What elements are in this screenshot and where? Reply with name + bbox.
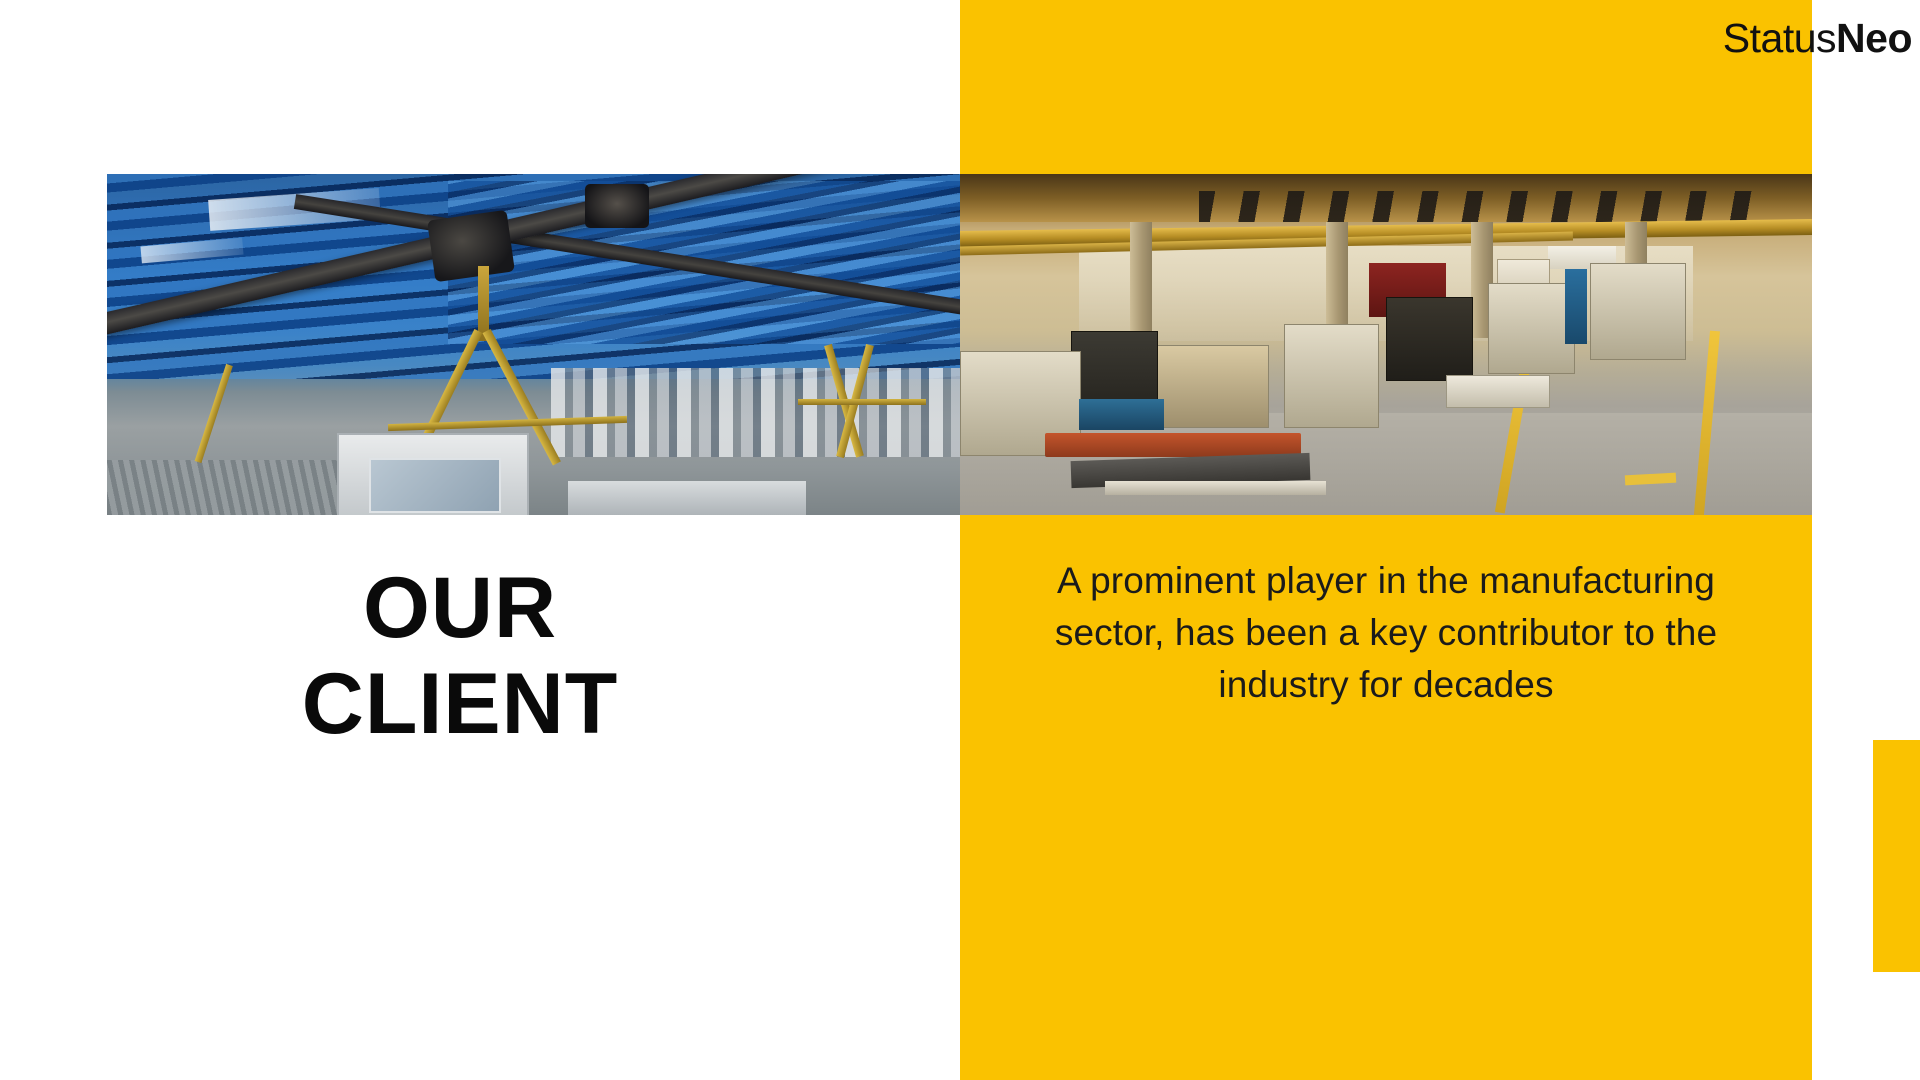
right-photo-ceiling-lamps bbox=[1199, 191, 1761, 222]
page-title-line-2: CLIENT bbox=[110, 656, 810, 752]
body-paragraph: A prominent player in the manufacturing … bbox=[1015, 555, 1757, 711]
right-photo-machine-5 bbox=[1386, 297, 1473, 381]
factory-photo-left bbox=[107, 174, 960, 515]
right-photo-trolley bbox=[1446, 375, 1550, 408]
right-photo-copper-tray bbox=[1045, 433, 1301, 457]
page-title: OUR CLIENT bbox=[110, 560, 810, 752]
left-photo-crate bbox=[337, 433, 529, 515]
right-photo-blue-cabinet bbox=[1079, 399, 1164, 430]
image-strip bbox=[107, 174, 1812, 515]
left-photo-crate-secondary bbox=[568, 481, 807, 515]
left-photo-machine-bank bbox=[551, 368, 960, 457]
page-title-line-1: OUR bbox=[110, 560, 810, 656]
logo-text-neo: Neo bbox=[1836, 15, 1912, 61]
logo-text-status: Status bbox=[1723, 15, 1836, 61]
right-photo-machine-6 bbox=[1488, 283, 1575, 374]
right-photo-work-bench bbox=[1105, 481, 1327, 495]
right-photo-machine-3 bbox=[1156, 345, 1269, 429]
slide-canvas: StatusNeo bbox=[0, 0, 1920, 1080]
left-photo-hoist-block-secondary bbox=[585, 184, 649, 228]
left-photo-crate-inner bbox=[369, 458, 501, 513]
left-photo-hoist-block bbox=[427, 210, 515, 283]
statusneo-logo: StatusNeo bbox=[1723, 14, 1912, 62]
right-photo-machine-7 bbox=[1590, 263, 1686, 360]
yellow-accent-bar bbox=[1873, 740, 1920, 972]
yellow-background-panel bbox=[960, 0, 1812, 1080]
right-photo-blue-press bbox=[1565, 269, 1587, 344]
left-photo-crossbar-right bbox=[798, 399, 926, 405]
factory-photo-right bbox=[960, 174, 1812, 515]
right-photo-machine-4 bbox=[1284, 324, 1380, 428]
